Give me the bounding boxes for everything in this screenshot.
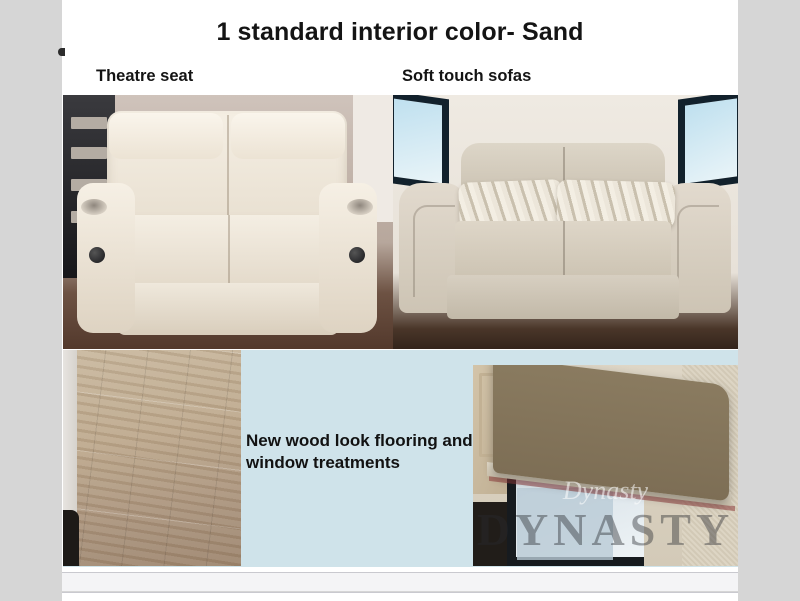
seat-cushions	[125, 215, 331, 293]
seat-base	[447, 275, 679, 319]
slide-stage: 1 standard interior color- Sand Theatre …	[0, 0, 800, 600]
slide-pointer-nub	[58, 48, 65, 56]
flooring-window-blurb: New wood look flooring and window treatm…	[246, 430, 476, 475]
soft-touch-sofa-photo	[393, 95, 738, 349]
caption-soft-touch-sofas: Soft touch sofas	[402, 67, 531, 86]
recliner-loveseat	[77, 111, 377, 337]
cup-holder-icon	[347, 199, 373, 215]
page-title: 1 standard interior color- Sand	[62, 18, 738, 47]
armrest-right	[319, 183, 377, 333]
wood-grain-texture	[63, 350, 241, 566]
seat-cushions	[455, 221, 671, 283]
slide-footer-strip	[62, 572, 738, 591]
window-treatment-photo: Dynasty DYNASTY	[473, 365, 738, 566]
headrest-right	[231, 113, 345, 159]
wood-look-flooring-photo	[63, 350, 241, 566]
seat-front	[117, 283, 339, 335]
theatre-seat-photo	[63, 95, 393, 349]
power-button-icon	[89, 247, 105, 263]
armrest-left	[77, 183, 135, 333]
power-button-icon	[349, 247, 365, 263]
window-glass	[517, 488, 613, 560]
caption-theatre-seat: Theatre seat	[96, 67, 193, 86]
floor-shadow	[63, 510, 79, 566]
headrest-left	[109, 113, 223, 159]
cup-holder-icon	[81, 199, 107, 215]
fabric-loveseat	[399, 143, 731, 333]
